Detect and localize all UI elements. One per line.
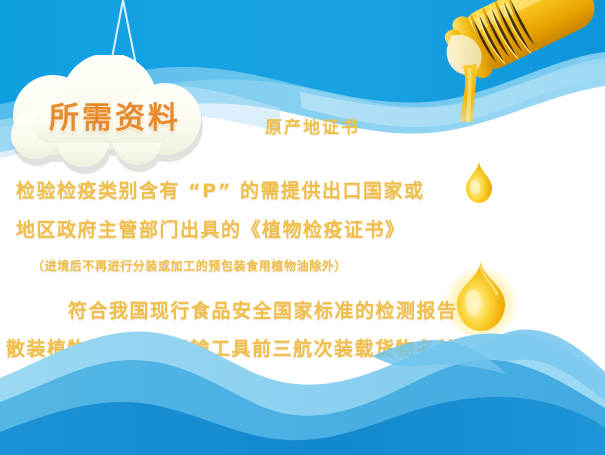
- poster-canvas: 所需资料: [0, 0, 605, 455]
- text-content: 原产地证书 检验检疫类别含有 “P” 的需提供出口国家或 地区政府主管部门出具的…: [0, 0, 605, 455]
- requirement-line-5: 散装植物油应提供运输工具前三航次装载货物名单清单: [6, 334, 498, 361]
- requirement-line-2: 地区政府主管部门出具的《植物检疫证书》: [16, 215, 406, 242]
- requirement-line-4: 符合我国现行食品安全国家标准的检测报告: [68, 296, 458, 323]
- origin-certificate-label: 原产地证书: [265, 113, 360, 138]
- requirement-line-1: 检验检疫类别含有 “P” 的需提供出口国家或: [16, 176, 424, 203]
- requirement-note: （进境后不再进行分装或加工的预包装食用植物油除外）: [32, 257, 347, 274]
